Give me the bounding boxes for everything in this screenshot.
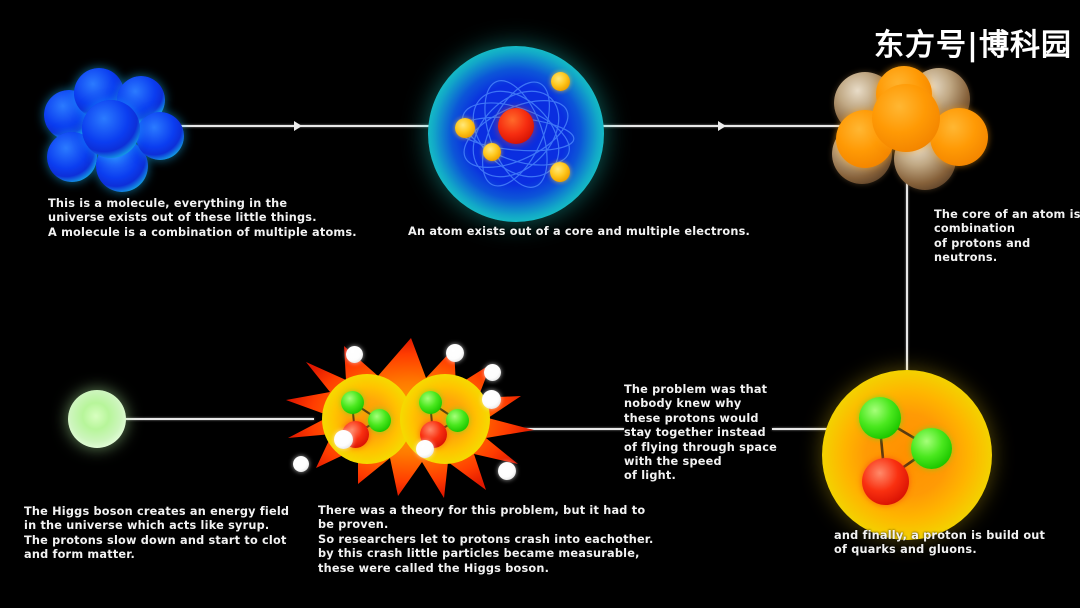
atom-diagram [428,46,612,228]
watermark-logo: 东方号|博科园 [874,20,1072,64]
caption-collision: There was a theory for this problem, but… [318,504,653,576]
molecule-cluster [44,68,192,190]
caption-problem: The problem was that nobody knew why the… [624,383,777,484]
colliding-proton-right [400,374,490,464]
colliding-proton-left [322,374,412,464]
caption-atom: An atom exists out of a core and multipl… [408,225,750,239]
caption-higgs: The Higgs boson creates an energy field … [24,505,289,563]
infographic-canvas: 东方号|博科园 This is a molecule, everything i… [0,0,1080,608]
molecule-sphere [136,112,184,160]
quark-red [862,458,909,505]
atom-nucleus [498,108,534,144]
quark-green [859,397,901,439]
gluon-links [400,374,490,464]
quark-green [419,391,442,414]
connector-molecule-to-atom [168,125,448,127]
electron [483,143,501,161]
electron [551,72,570,91]
higgs-particle [293,456,309,472]
electron [455,118,475,138]
proton-collision-diagram [286,338,536,498]
quark-green [341,391,364,414]
gluon-links [322,374,412,464]
higgs-particle [482,390,501,409]
higgs-particle [416,440,434,458]
gluon-links [822,370,992,540]
higgs-particle [334,430,353,449]
higgs-boson-sphere [68,390,126,448]
atomic-core-cluster [832,66,992,190]
caption-proton: and finally, a proton is build out of qu… [834,529,1045,558]
electron [550,162,570,182]
arrowhead-atom-to-core [718,121,726,131]
quark-green [446,409,469,432]
caption-molecule: This is a molecule, everything in the un… [48,197,357,240]
higgs-particle [346,346,363,363]
quark-green [911,428,952,469]
proton-diagram [822,370,992,540]
quark-green [368,409,391,432]
higgs-particle [446,344,464,362]
higgs-particle [484,364,501,381]
connector-collision-to-problem-text [524,428,624,430]
proton [872,84,940,152]
arrowhead-molecule-to-atom [294,121,302,131]
higgs-particle [498,462,516,480]
molecule-sphere-center [82,100,140,158]
caption-core: The core of an atom is a combination of … [934,208,1080,266]
